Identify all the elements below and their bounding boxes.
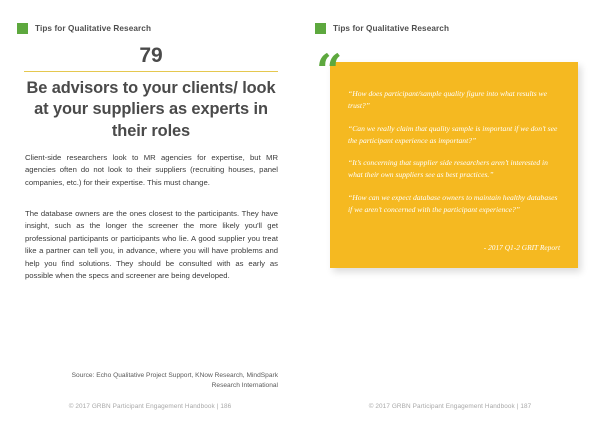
list-item: “How can we expect database owners to ma… bbox=[348, 192, 560, 217]
green-square-icon bbox=[315, 23, 326, 34]
right-page: Tips for Qualitative Research “How does … bbox=[300, 0, 600, 424]
quote-card: “How does participant/sample quality fig… bbox=[330, 62, 578, 268]
body-paragraph-1: Client-side researchers look to MR agenc… bbox=[25, 152, 278, 189]
left-page: Tips for Qualitative Research 79 Be advi… bbox=[0, 0, 300, 424]
running-header-label: Tips for Qualitative Research bbox=[35, 24, 151, 33]
book-spread: Tips for Qualitative Research 79 Be advi… bbox=[0, 0, 600, 424]
quote-attribution: - 2017 Q1-2 GRIT Report bbox=[484, 243, 560, 252]
body-paragraph-2: The database owners are the ones closest… bbox=[25, 208, 278, 283]
list-item: “Can we really claim that quality sample… bbox=[348, 123, 560, 148]
source-note: Source: Echo Qualitative Project Support… bbox=[60, 371, 278, 391]
quotation-mark-icon: “ bbox=[316, 48, 339, 94]
running-header-label: Tips for Qualitative Research bbox=[333, 24, 449, 33]
page-footer-right: © 2017 GRBN Participant Engagement Handb… bbox=[300, 403, 600, 410]
list-item: “How does participant/sample quality fig… bbox=[348, 88, 560, 113]
page-footer-left: © 2017 GRBN Participant Engagement Handb… bbox=[0, 403, 300, 410]
tip-number: 79 bbox=[24, 45, 278, 66]
page-title: Be advisors to your clients/ look at you… bbox=[24, 78, 278, 142]
running-header-left: Tips for Qualitative Research bbox=[17, 23, 151, 34]
gold-divider-rule bbox=[24, 71, 278, 72]
quote-list: “How does participant/sample quality fig… bbox=[348, 88, 560, 216]
quote-card-wrapper: “How does participant/sample quality fig… bbox=[330, 48, 578, 268]
list-item: “It’s concerning that supplier side rese… bbox=[348, 157, 560, 182]
running-header-right: Tips for Qualitative Research bbox=[315, 23, 449, 34]
green-square-icon bbox=[17, 23, 28, 34]
